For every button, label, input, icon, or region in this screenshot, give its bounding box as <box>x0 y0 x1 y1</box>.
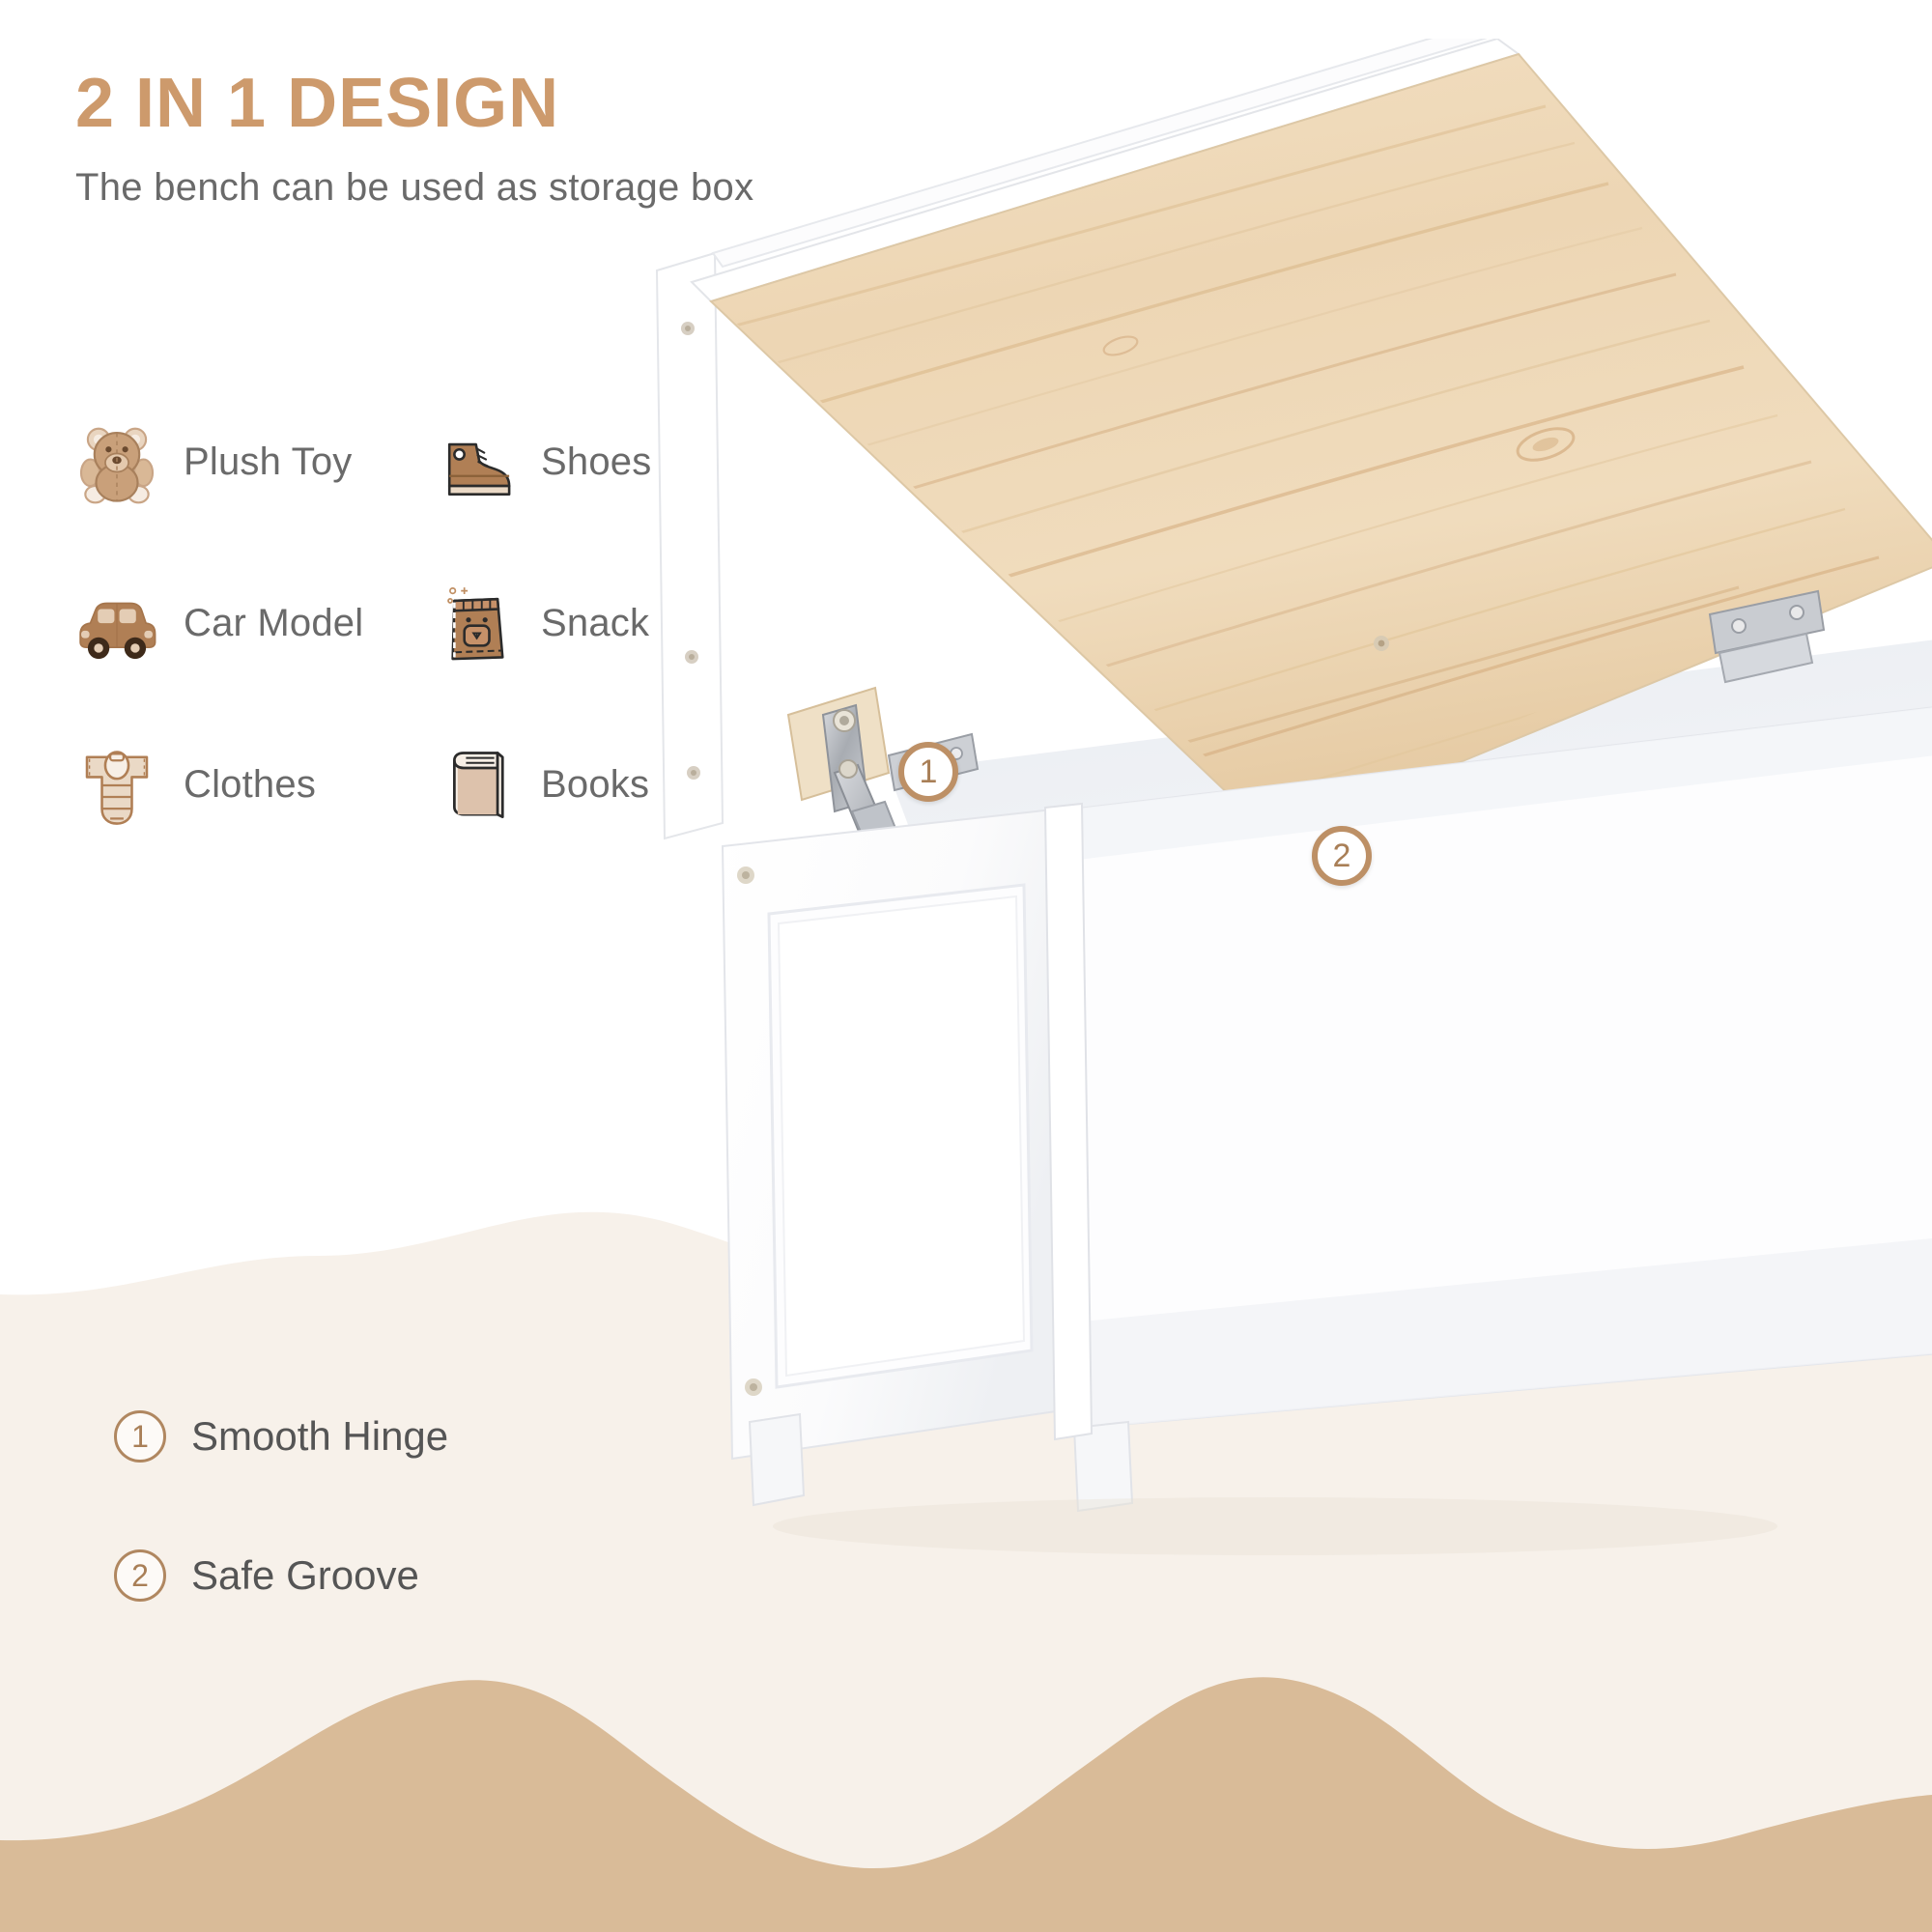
feature-label: Clothes <box>184 763 316 807</box>
boot-shoe-icon <box>433 421 516 504</box>
feature-label: Car Model <box>184 602 363 645</box>
feature-item-car-model: Car Model <box>75 543 433 704</box>
bench-right-face <box>1053 705 1932 1511</box>
callout-marker-2: 2 <box>1312 826 1372 886</box>
floor-shadow <box>773 1497 1777 1555</box>
legend-label: Smooth Hinge <box>191 1413 448 1460</box>
product-photo-storage-bench <box>599 39 1932 1604</box>
feature-item-clothes: Clothes <box>75 704 433 866</box>
feature-label: Plush Toy <box>184 440 353 484</box>
page-subtitle: The bench can be used as storage box <box>75 166 753 210</box>
page-title: 2 IN 1 DESIGN <box>75 68 753 141</box>
teddy-bear-icon <box>75 421 158 504</box>
book-icon <box>433 744 516 827</box>
feature-item-plush-toy: Plush Toy <box>75 382 433 543</box>
toy-car-icon <box>75 582 158 666</box>
feature-item-snack: Snack <box>433 543 790 704</box>
legend-badge-1: 1 <box>114 1410 166 1463</box>
legend-row: 1 Smooth Hinge <box>114 1410 448 1463</box>
bench-front-panel <box>723 810 1063 1505</box>
snack-bag-icon <box>433 582 516 666</box>
legend-row: 2 Safe Groove <box>114 1549 448 1602</box>
legend-label: Safe Groove <box>191 1552 419 1599</box>
legend-badge-2: 2 <box>114 1549 166 1602</box>
feature-label: Shoes <box>541 440 651 484</box>
feature-label: Books <box>541 763 649 807</box>
feature-item-shoes: Shoes <box>433 382 790 543</box>
header: 2 IN 1 DESIGN The bench can be used as s… <box>75 68 753 210</box>
feature-label: Snack <box>541 602 649 645</box>
callout-marker-1: 1 <box>898 742 958 802</box>
baby-onesie-icon <box>75 744 158 827</box>
feature-item-books: Books <box>433 704 790 866</box>
feature-list: Plush Toy Shoes Car Model <box>75 382 790 866</box>
legend-list: 1 Smooth Hinge 2 Safe Groove <box>114 1410 448 1689</box>
